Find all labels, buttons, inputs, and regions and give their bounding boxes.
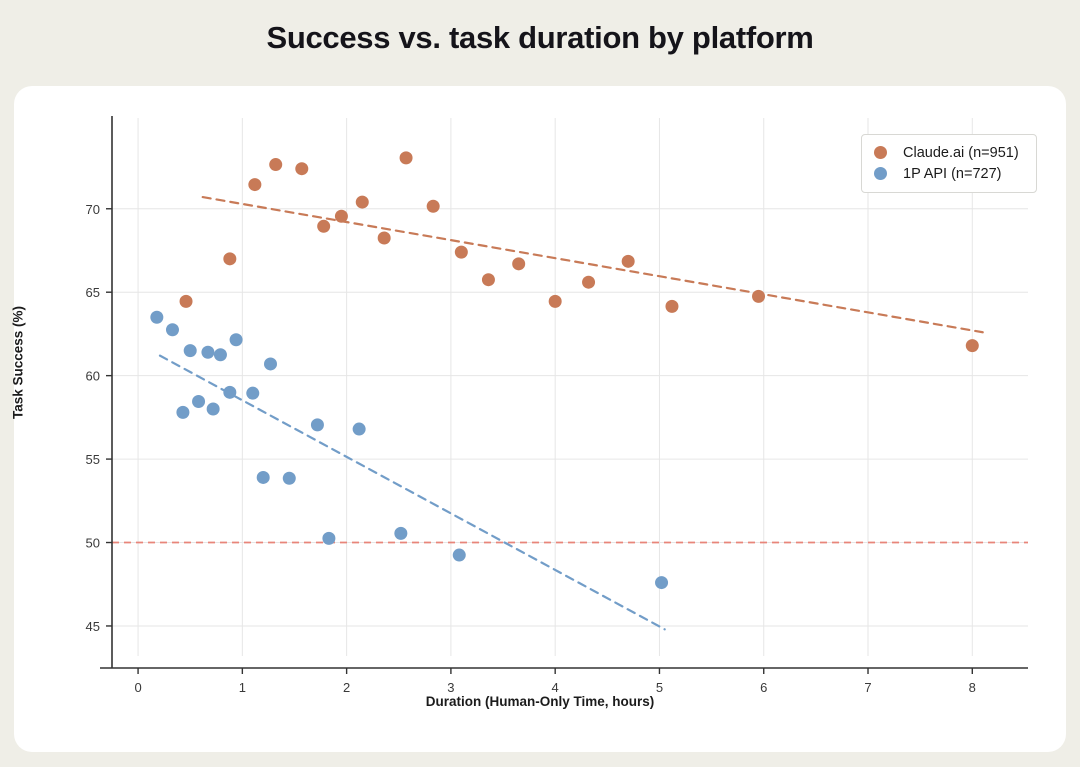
legend-item-1p-api[interactable]: 1P API (n=727) [874, 163, 1026, 184]
data-point[interactable] [582, 276, 595, 289]
data-point[interactable] [230, 333, 243, 346]
data-point[interactable] [264, 357, 277, 370]
data-point[interactable] [549, 295, 562, 308]
x-axis-tick-label: 3 [447, 680, 454, 695]
legend-marker-1p-api [874, 167, 887, 180]
y-axis-tick-label: 45 [86, 619, 100, 634]
data-point[interactable] [427, 200, 440, 213]
data-point[interactable] [176, 406, 189, 419]
x-axis-tick-label: 2 [343, 680, 350, 695]
x-axis-tick-label: 0 [134, 680, 141, 695]
legend-label-claude-ai: Claude.ai (n=951) [903, 145, 1019, 161]
data-point[interactable] [966, 339, 979, 352]
data-point[interactable] [752, 290, 765, 303]
y-axis-tick-label: 65 [86, 285, 100, 300]
data-point[interactable] [622, 255, 635, 268]
legend-item-claude-ai[interactable]: Claude.ai (n=951) [874, 142, 1026, 163]
data-point[interactable] [166, 323, 179, 336]
y-axis-tick-label: 70 [86, 202, 100, 217]
data-point[interactable] [482, 273, 495, 286]
y-axis-tick-label: 60 [86, 369, 100, 384]
data-point[interactable] [246, 387, 259, 400]
x-axis-tick-label: 7 [864, 680, 871, 695]
x-axis-tick-label: 4 [552, 680, 559, 695]
data-point[interactable] [356, 196, 369, 209]
data-point[interactable] [655, 576, 668, 589]
data-point[interactable] [150, 311, 163, 324]
chart-page: Success vs. task duration by platform 45… [0, 0, 1080, 767]
data-point[interactable] [283, 472, 296, 485]
x-axis-title: Duration (Human-Only Time, hours) [0, 694, 1080, 709]
data-point[interactable] [201, 346, 214, 359]
data-point[interactable] [378, 231, 391, 244]
data-point[interactable] [335, 210, 348, 223]
data-point[interactable] [269, 158, 282, 171]
data-point[interactable] [317, 220, 330, 233]
data-point[interactable] [223, 386, 236, 399]
data-point[interactable] [453, 549, 466, 562]
data-point[interactable] [295, 162, 308, 175]
trend-line [203, 197, 983, 332]
y-axis-tick-label: 55 [86, 452, 100, 467]
data-point[interactable] [192, 395, 205, 408]
data-point[interactable] [400, 151, 413, 164]
x-axis-tick-label: 8 [969, 680, 976, 695]
legend-label-1p-api: 1P API (n=727) [903, 166, 1001, 182]
data-point[interactable] [311, 418, 324, 431]
x-axis-tick-label: 6 [760, 680, 767, 695]
legend-marker-claude-ai [874, 146, 887, 159]
data-point[interactable] [184, 344, 197, 357]
chart-legend: Claude.ai (n=951) 1P API (n=727) [861, 134, 1037, 193]
data-point[interactable] [322, 532, 335, 545]
data-point[interactable] [455, 246, 468, 259]
data-point[interactable] [257, 471, 270, 484]
data-point[interactable] [207, 403, 220, 416]
y-axis-title: Task Success (%) [11, 283, 26, 443]
x-axis-tick-label: 5 [656, 680, 663, 695]
data-point[interactable] [223, 252, 236, 265]
data-point[interactable] [512, 257, 525, 270]
x-axis-tick-label: 1 [239, 680, 246, 695]
data-point[interactable] [248, 178, 261, 191]
data-point[interactable] [180, 295, 193, 308]
data-point[interactable] [665, 300, 678, 313]
data-point[interactable] [214, 348, 227, 361]
trend-line [160, 356, 665, 630]
page-title: Success vs. task duration by platform [0, 20, 1080, 56]
y-axis-tick-label: 50 [86, 536, 100, 551]
data-point[interactable] [394, 527, 407, 540]
data-point[interactable] [353, 423, 366, 436]
